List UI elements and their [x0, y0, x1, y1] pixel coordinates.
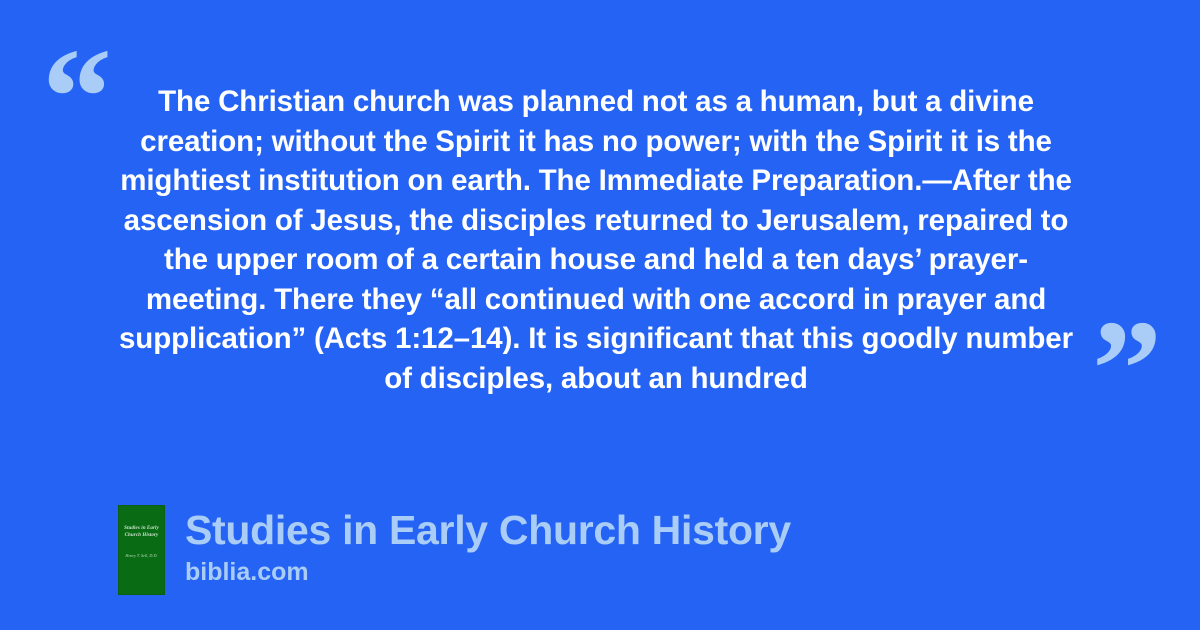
closing-quote-icon: ” — [1092, 300, 1162, 440]
footer: Studies in Early Church History Henry T.… — [118, 505, 791, 595]
site-name[interactable]: biblia.com — [185, 553, 791, 587]
book-cover-title: Studies in Early Church History — [122, 526, 162, 539]
book-title: Studies in Early Church History — [185, 505, 791, 553]
quote-card: “ The Christian church was planned not a… — [0, 0, 1200, 630]
quote-block: The Christian church was planned not as … — [108, 82, 1084, 398]
book-cover-author: Henry T. Sell, D.D. — [121, 553, 163, 558]
quote-text: The Christian church was planned not as … — [108, 82, 1084, 398]
book-cover-thumbnail: Studies in Early Church History Henry T.… — [118, 505, 165, 595]
footer-text: Studies in Early Church History biblia.c… — [185, 505, 791, 587]
opening-quote-icon: “ — [42, 28, 112, 168]
